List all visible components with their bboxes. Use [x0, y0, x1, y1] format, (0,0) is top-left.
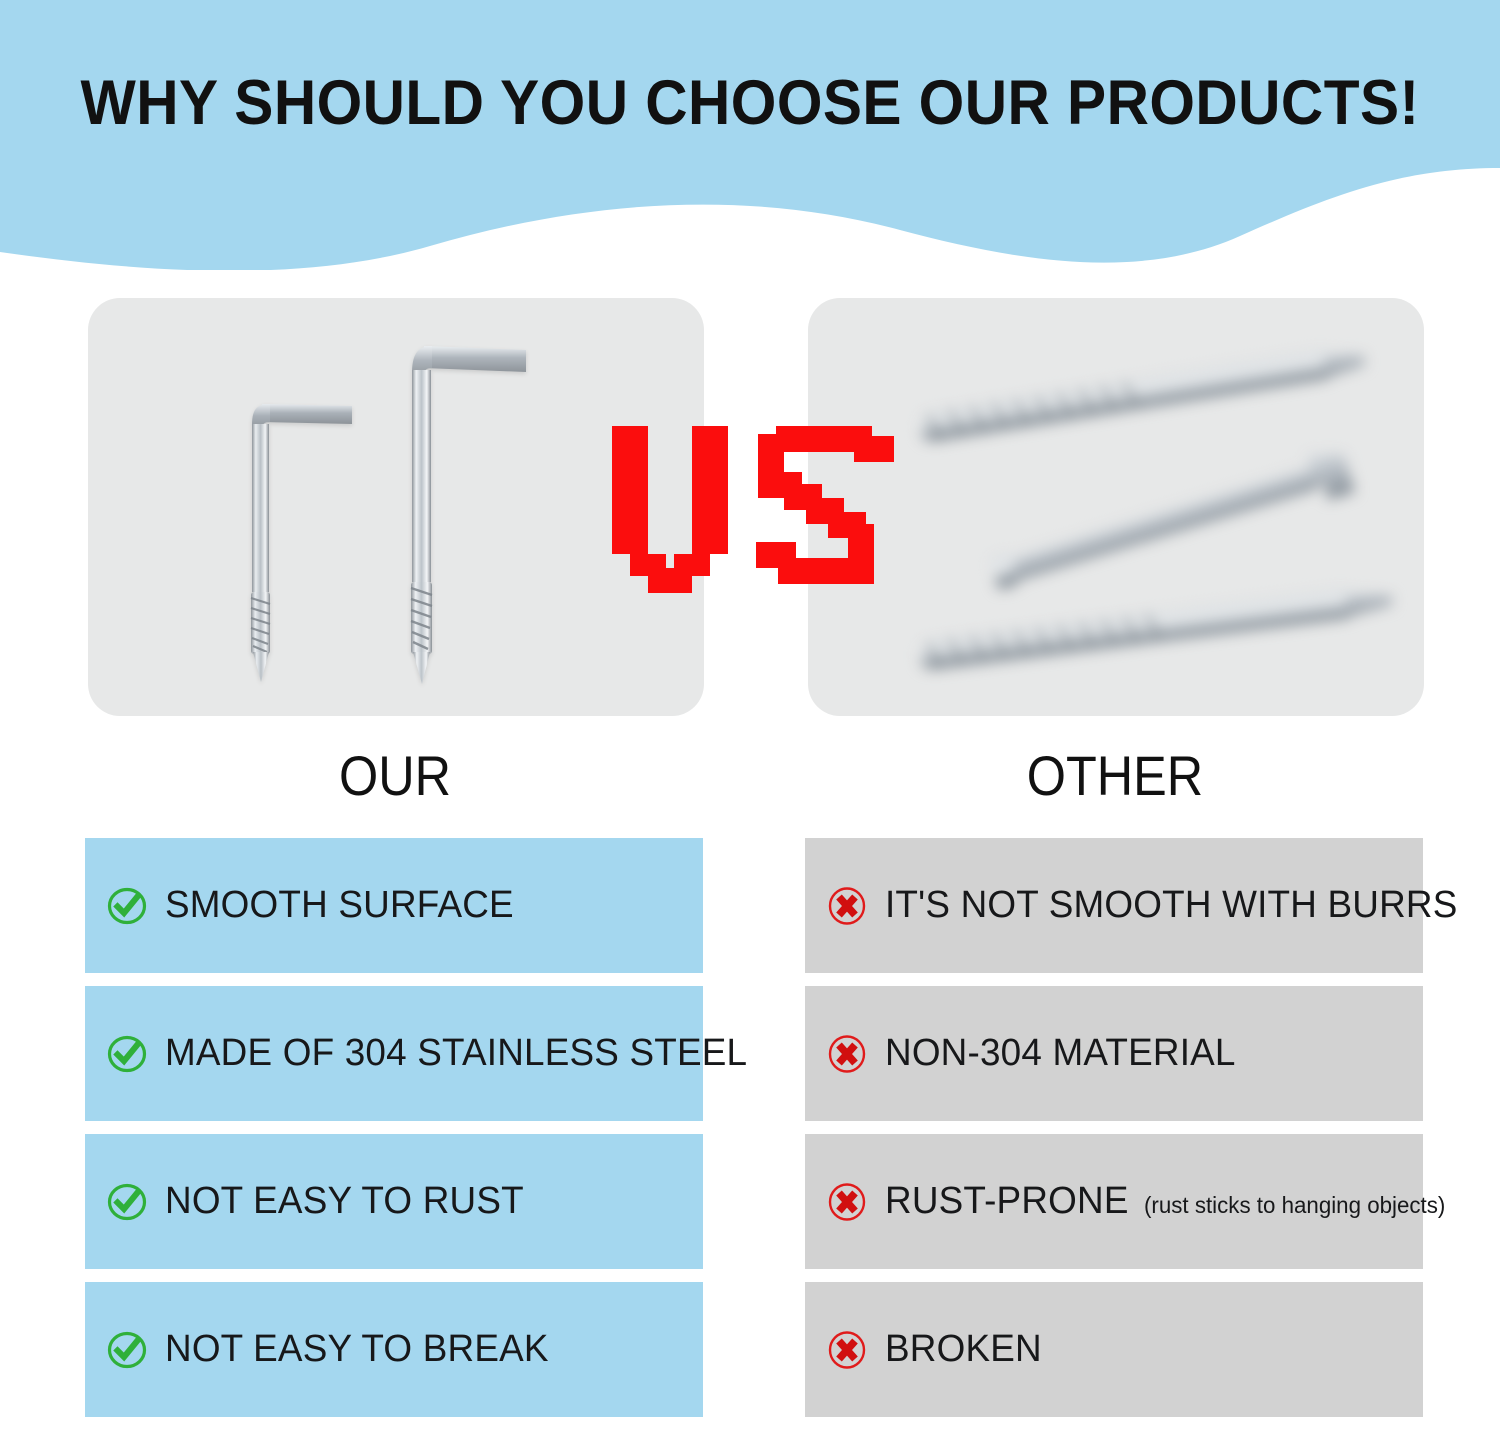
check-circle-icon — [107, 1330, 147, 1370]
other-feature-row: RUST-PRONE (rust sticks to hanging objec… — [805, 1134, 1423, 1269]
our-feature-label: NOT EASY TO BREAK — [165, 1328, 549, 1371]
other-feature-label: BROKEN — [885, 1328, 1042, 1371]
versus-badge — [608, 422, 898, 597]
other-feature-label: RUST-PRONE — [885, 1180, 1129, 1223]
x-circle-icon — [827, 886, 867, 926]
our-feature-label: MADE OF 304 STAINLESS STEEL — [165, 1032, 747, 1075]
check-circle-icon — [107, 1034, 147, 1074]
our-column-heading: OUR — [260, 748, 530, 804]
header-banner: WHY SHOULD YOU CHOOSE OUR PRODUCTS! — [0, 0, 1500, 270]
other-product-image-panel — [808, 298, 1424, 716]
page-title: WHY SHOULD YOU CHOOSE OUR PRODUCTS! — [53, 72, 1448, 135]
check-circle-icon — [107, 1182, 147, 1222]
our-feature-label: SMOOTH SURFACE — [165, 884, 514, 927]
blurred-competitor-screws-image — [808, 298, 1424, 716]
our-feature-label: NOT EASY TO RUST — [165, 1180, 524, 1223]
other-feature-label: NON-304 MATERIAL — [885, 1032, 1236, 1075]
our-feature-row: MADE OF 304 STAINLESS STEEL — [85, 986, 703, 1121]
our-feature-row: NOT EASY TO BREAK — [85, 1282, 703, 1417]
other-feature-row: BROKEN — [805, 1282, 1423, 1417]
other-column-heading: OTHER — [980, 748, 1250, 804]
other-feature-list: IT'S NOT SMOOTH WITH BURRS NON-304 MATER… — [805, 838, 1423, 1430]
other-feature-note: (rust sticks to hanging objects) — [1144, 1192, 1445, 1219]
other-feature-row: NON-304 MATERIAL — [805, 986, 1423, 1121]
other-feature-label: IT'S NOT SMOOTH WITH BURRS — [885, 884, 1457, 927]
our-feature-row: NOT EASY TO RUST — [85, 1134, 703, 1269]
check-circle-icon — [107, 886, 147, 926]
vs-pixel-text-icon — [608, 422, 898, 597]
x-circle-icon — [827, 1182, 867, 1222]
our-feature-row: SMOOTH SURFACE — [85, 838, 703, 973]
our-feature-list: SMOOTH SURFACE MADE OF 304 STAINLESS STE… — [85, 838, 703, 1430]
x-circle-icon — [827, 1330, 867, 1370]
screw-hook-large-icon — [408, 340, 553, 690]
screw-hook-small-icon — [248, 396, 378, 686]
other-feature-row: IT'S NOT SMOOTH WITH BURRS — [805, 838, 1423, 973]
x-circle-icon — [827, 1034, 867, 1074]
feature-comparison-lists: SMOOTH SURFACE MADE OF 304 STAINLESS STE… — [0, 838, 1500, 1430]
